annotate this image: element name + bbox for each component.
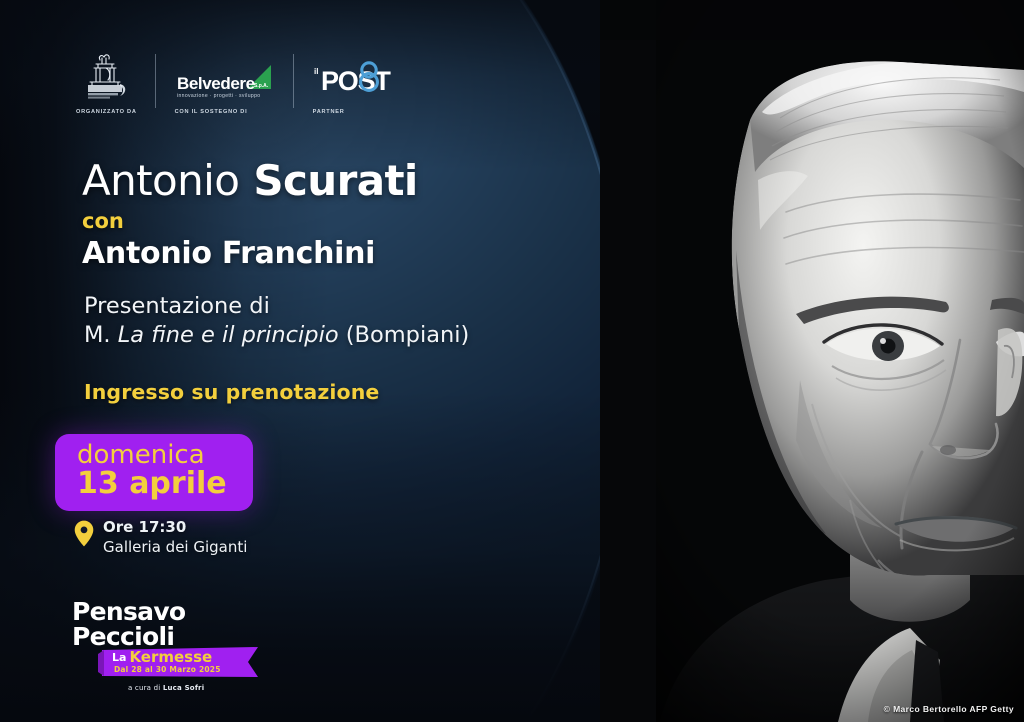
presentation-description: Presentazione di M. La fine e il princip… (84, 292, 604, 351)
festival-word-1: Pensavo (72, 600, 302, 625)
event-time: Ore 17:30 (103, 518, 247, 538)
curator-name: Luca Sofri (163, 684, 205, 692)
with-label: con (82, 211, 582, 232)
booking-note: Ingresso su prenotazione (84, 380, 379, 404)
date-day-month: 13 aprile (77, 468, 227, 500)
ribbon-kermesse: Kermesse (129, 650, 212, 665)
speaker-name: Antonio Scurati (82, 160, 582, 202)
curator-credit: a cura di Luca Sofri (128, 684, 302, 692)
speaker-photo: © Marco Bertorello AFP Getty (600, 0, 1024, 722)
poster-content: Antonio Scurati con Antonio Franchini Pr… (0, 0, 600, 722)
book-publisher: (Bompiani) (339, 322, 470, 348)
ribbon-la: La (112, 652, 126, 663)
date-badge: domenica 13 aprile (55, 434, 253, 511)
photo-credit: © Marco Bertorello AFP Getty (884, 704, 1014, 714)
festival-logo: Pensavo Peccioli LaKermesse Dal 28 al 30… (72, 600, 302, 692)
description-line-2: M. La fine e il principio (Bompiani) (84, 321, 604, 350)
venue-block: Ore 17:30 Galleria dei Giganti (74, 518, 247, 558)
event-poster: © Marco Bertorello AFP Getty (0, 0, 1024, 722)
map-pin-icon (74, 520, 94, 547)
headline-block: Antonio Scurati con Antonio Franchini (82, 160, 582, 270)
event-place: Galleria dei Giganti (103, 538, 247, 558)
portrait-illustration (600, 0, 1024, 722)
guest-name: Antonio Franchini (82, 238, 582, 270)
venue-text: Ore 17:30 Galleria dei Giganti (103, 518, 247, 558)
ribbon-title: LaKermesse (112, 650, 212, 666)
speaker-first-name: Antonio (82, 156, 239, 205)
book-prefix: M. (84, 322, 118, 348)
ribbon-dates: Dal 28 al 30 Marzo 2025 (114, 665, 221, 674)
description-line-1: Presentazione di (84, 292, 604, 321)
book-title: La fine e il principio (118, 322, 339, 348)
speaker-last-name: Scurati (253, 156, 417, 205)
date-weekday: domenica (77, 442, 227, 469)
festival-ribbon: LaKermesse Dal 28 al 30 Marzo 2025 (98, 646, 283, 680)
curator-prefix: a cura di (128, 684, 163, 692)
